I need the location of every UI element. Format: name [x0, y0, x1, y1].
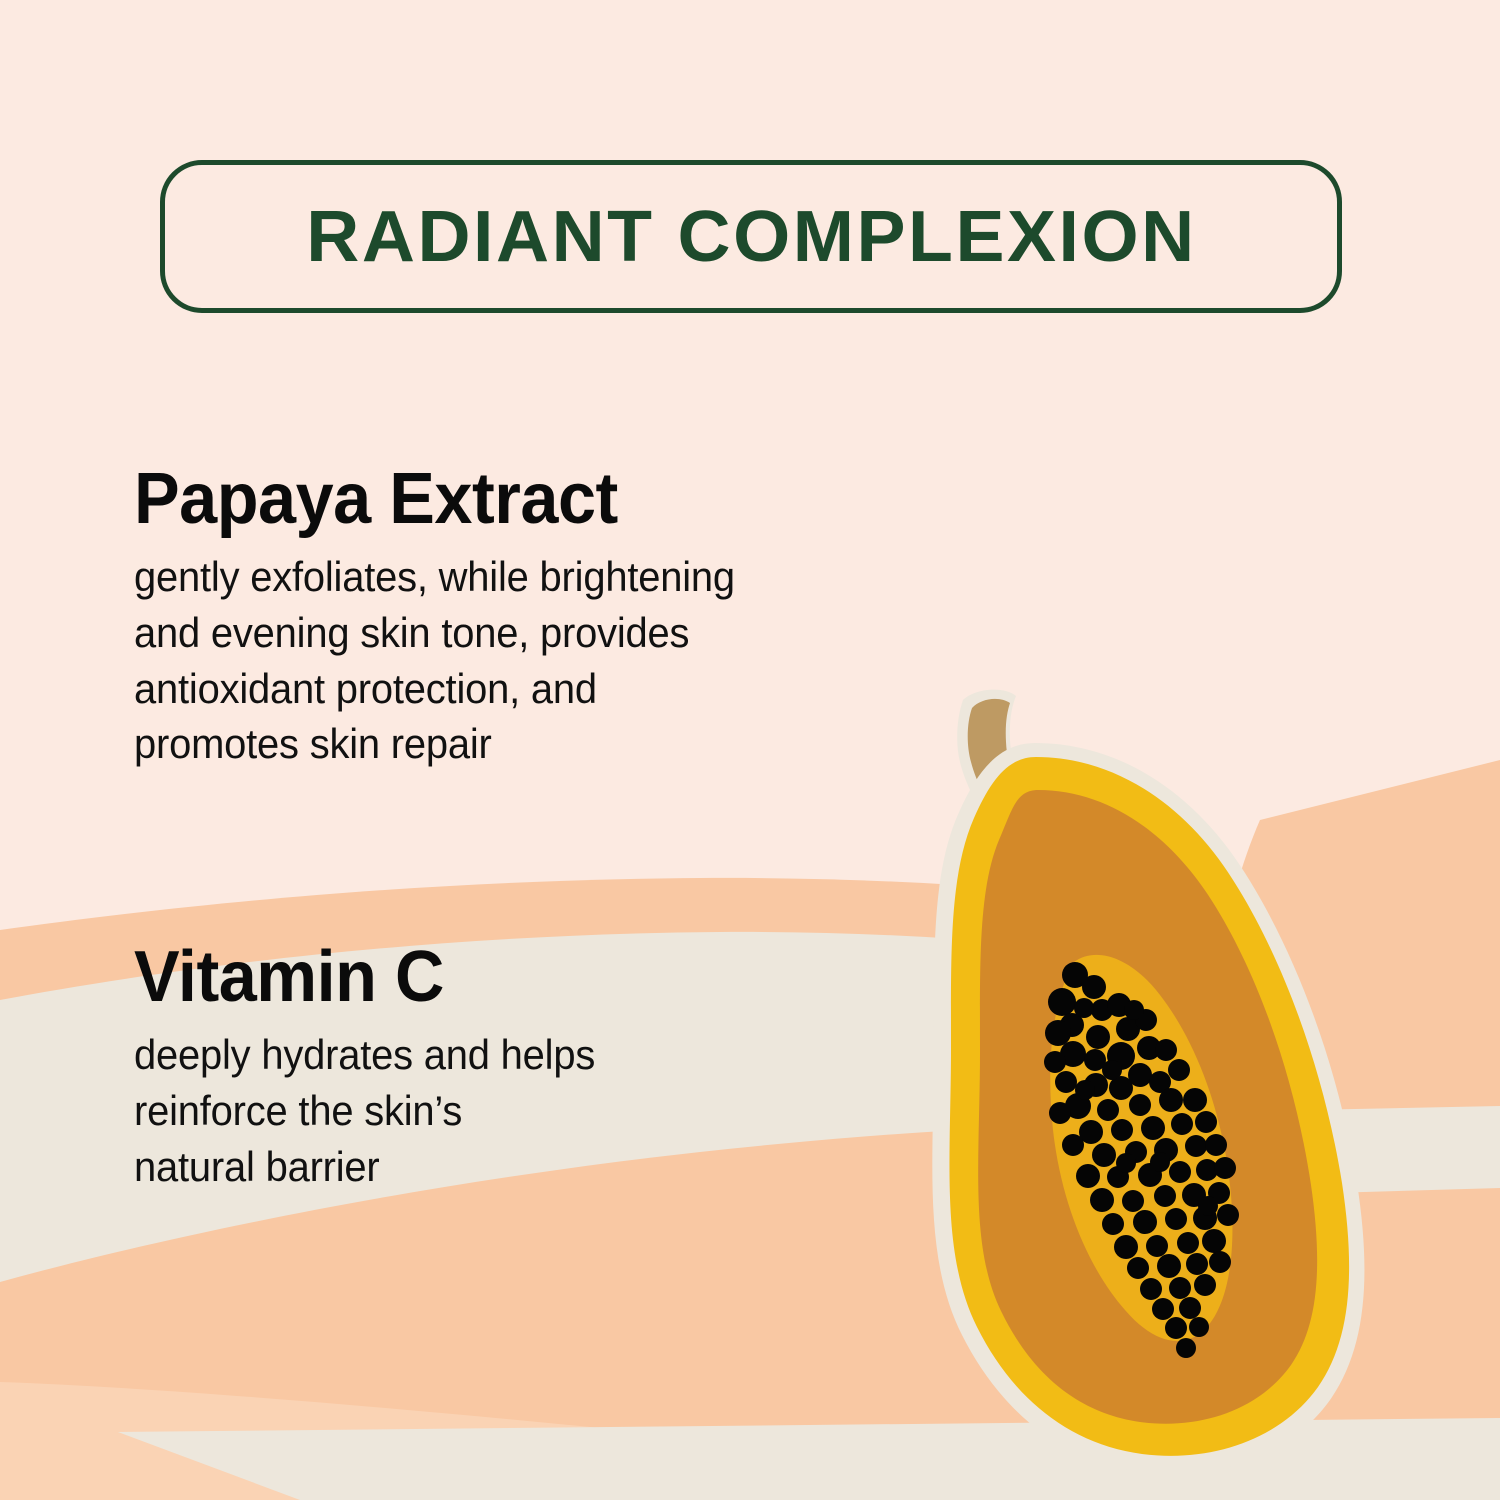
- poster-canvas: RADIANT COMPLEXION Papaya Extract gently…: [0, 0, 1500, 1500]
- papaya-illustration: [0, 0, 1500, 1500]
